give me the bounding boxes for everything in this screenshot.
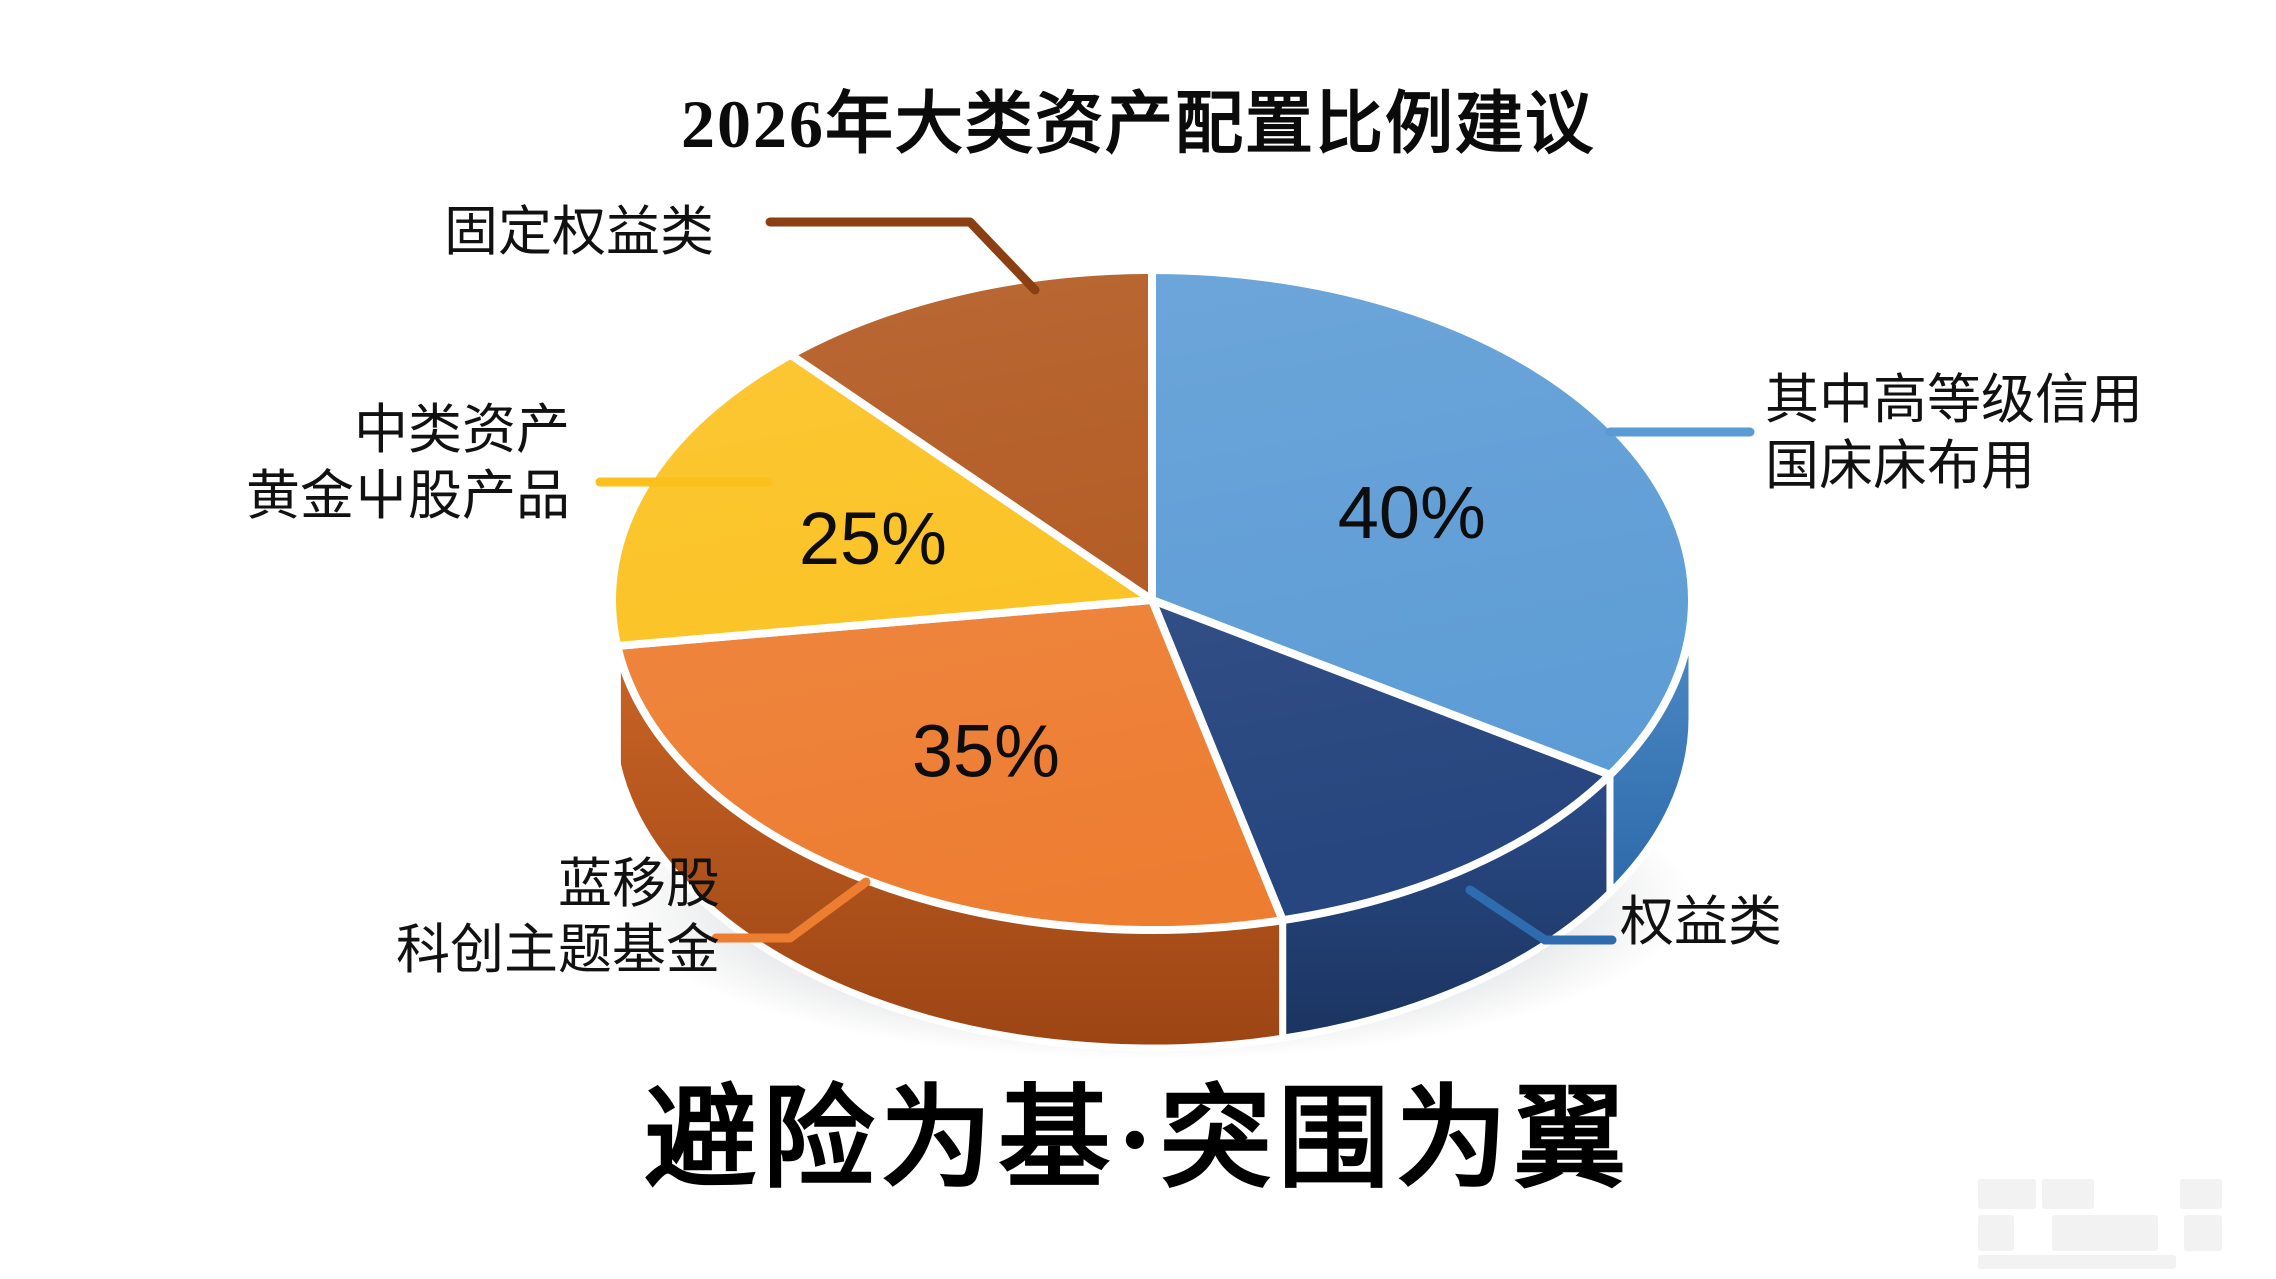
- callout-credit: 其中高等级信用 国床床布用: [1765, 368, 2143, 500]
- footer-slogan: 避险为基·突围为翼: [0, 1048, 2276, 1210]
- leader-line-fixed-income: [770, 222, 1035, 290]
- pie-label-25: 25%: [799, 497, 947, 580]
- callout-equity: 权益类: [1620, 890, 1782, 956]
- callout-credit-line-1: 其中高等级信用: [1765, 368, 2143, 434]
- callout-credit-line-2: 国床床布用: [1765, 434, 2143, 500]
- callout-mid-assets-line-2: 黄金屮股产品: [150, 464, 570, 530]
- chart-canvas: 2026年大类资产配置比例建议: [0, 0, 2276, 1279]
- callout-blue-shift-line-2: 科创主题基金: [300, 918, 720, 984]
- pie-label-35: 35%: [912, 709, 1060, 792]
- callout-blue-shift: 蓝移股 科创主题基金: [300, 852, 720, 984]
- pie-top-faces: 其中高等级信用 国床床布用 40%权益类 12%蓝移股 / 科创主题基金 35%…: [612, 270, 1692, 930]
- callout-equity-line-1: 权益类: [1620, 890, 1782, 956]
- callout-mid-assets-line-1: 中类资产: [150, 398, 570, 464]
- pie-label-40: 40%: [1338, 471, 1486, 554]
- callout-fixed-income-line-1: 固定权益类: [444, 200, 714, 266]
- callout-mid-assets: 中类资产 黄金屮股产品: [150, 398, 570, 530]
- callout-fixed-income: 固定权益类: [444, 200, 714, 266]
- callout-blue-shift-line-1: 蓝移股: [300, 852, 720, 918]
